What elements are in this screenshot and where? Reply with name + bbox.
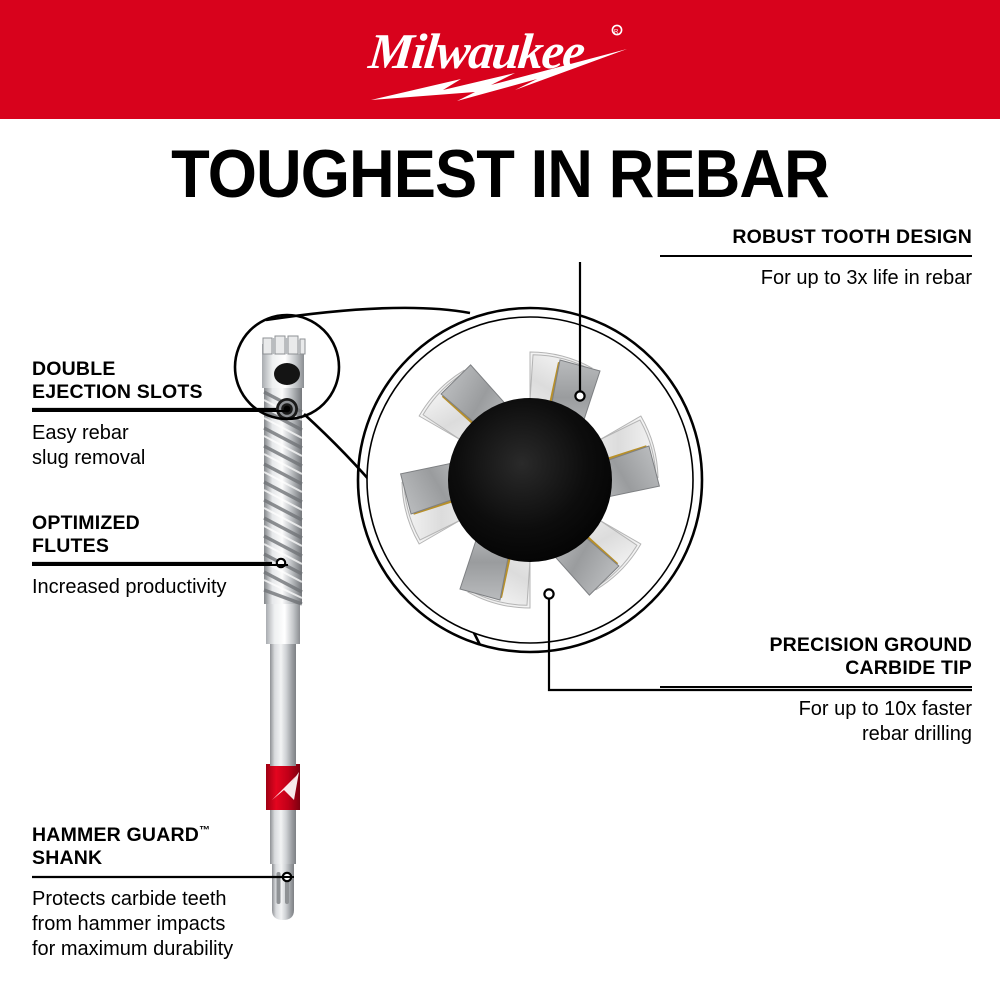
callout-title: DOUBLE EJECTION SLOTS [32,358,288,404]
callout-title: PRECISION GROUND CARBIDE TIP [660,634,972,680]
callout-body: Protects carbide teeth from hammer impac… [32,887,294,963]
callout-body: For up to 3x life in rebar [660,266,972,291]
callout-hammer-guard-shank: HAMMER GUARD™ SHANK Protects carbide tee… [32,824,294,962]
callout-optimized-flutes: OPTIMIZED FLUTES Increased productivity [32,512,288,600]
magnified-drill-tip [367,317,693,643]
callout-body: Increased productivity [32,575,288,600]
trademark-symbol: ™ [199,825,210,837]
callout-title: HAMMER GUARD™ SHANK [32,824,294,870]
callout-body: Easy rebar slug removal [32,421,288,471]
callout-title-main: HAMMER GUARD [32,824,199,846]
callout-robust-tooth-design: ROBUST TOOTH DESIGN For up to 3x life in… [660,226,972,291]
callout-rule [660,686,972,688]
callout-body: For up to 10x faster rebar drilling [660,697,972,747]
callout-rule [32,410,288,412]
callout-title-second-line: SHANK [32,847,102,869]
callout-rule [32,564,288,566]
callout-rule [660,255,972,257]
callout-double-ejection-slots: DOUBLE EJECTION SLOTS Easy rebar slug re… [32,358,288,471]
callout-rule [32,876,294,878]
callout-title: OPTIMIZED FLUTES [32,512,288,558]
callout-title: ROBUST TOOTH DESIGN [660,226,972,249]
callout-precision-ground-carbide-tip: PRECISION GROUND CARBIDE TIP For up to 1… [660,634,972,747]
